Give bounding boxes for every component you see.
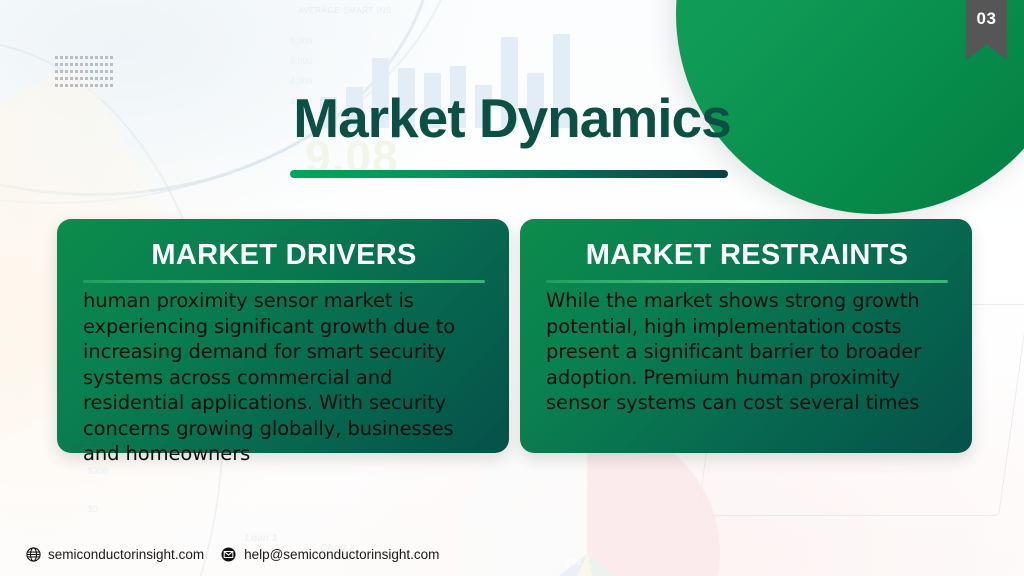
watermark-axis-value-1: 6,000 — [290, 56, 313, 66]
footer-email[interactable]: help@semiconductorinsight.com — [220, 547, 439, 562]
card-divider-restraints — [546, 280, 948, 283]
footer: semiconductorinsight.com help@semiconduc… — [26, 547, 439, 562]
footer-website-label: semiconductorinsight.com — [48, 547, 204, 562]
card-heading-restraints: MARKET RESTRAINTS — [546, 235, 948, 275]
dot-grid-icon — [55, 56, 115, 89]
footer-website[interactable]: semiconductorinsight.com — [26, 547, 204, 562]
card-body-restraints: While the market shows strong growth pot… — [546, 288, 948, 416]
page-title: Market Dynamics — [0, 86, 1024, 150]
watermark-axis-value-0: 8,000 — [290, 36, 313, 46]
card-market-drivers: MARKET DRIVERS human proximity sensor ma… — [57, 219, 509, 453]
card-divider-drivers — [83, 280, 485, 283]
watermark-axis-value-5: $0 — [88, 504, 98, 514]
card-heading-drivers: MARKET DRIVERS — [83, 235, 485, 275]
footer-email-label: help@semiconductorinsight.com — [244, 547, 439, 562]
slide-root: AVERAGE SMART INS 8,000 6,000 4,000 2,00… — [0, 0, 1024, 576]
watermark-axis-value-2: 4,000 — [290, 76, 313, 86]
globe-icon — [26, 547, 41, 562]
envelope-icon — [220, 547, 237, 562]
watermark-pie-slice-label: 7% — [565, 556, 581, 568]
card-market-restraints: MARKET RESTRAINTS While the market shows… — [520, 219, 972, 453]
watermark-misc-label-1: Loan 1 — [245, 533, 277, 544]
title-underline-bar — [290, 170, 728, 178]
watermark-axis-value-4: $300 — [88, 466, 108, 476]
card-body-drivers: human proximity sensor market is experie… — [83, 288, 485, 467]
cards-container: MARKET DRIVERS human proximity sensor ma… — [57, 219, 967, 453]
